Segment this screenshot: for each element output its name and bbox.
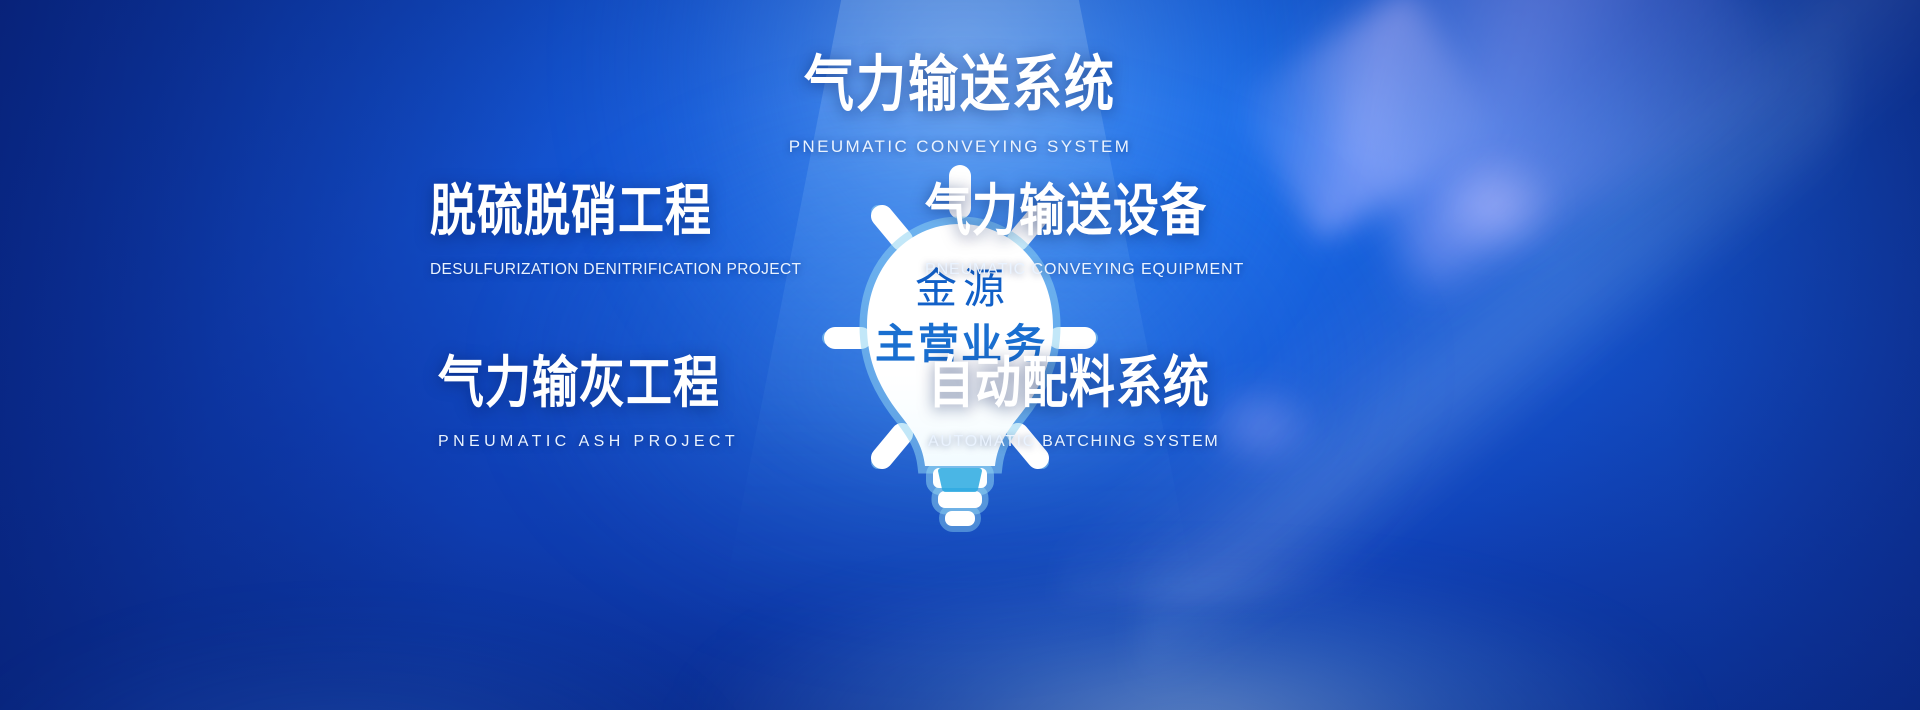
service-label-automatic-batching-system[interactable]: 自动配料系统 AUTOMATIC BATCHING SYSTEM — [928, 364, 1219, 451]
service-title-en: PNEUMATIC ASH PROJECT — [438, 433, 739, 451]
service-label-desulfurization-denitrification-project[interactable]: 脱硫脱硝工程 DESULFURIZATION DENITRIFICATION P… — [430, 192, 801, 279]
bulb-base-accent — [938, 468, 982, 492]
service-title-cn: 气力输送设备 — [925, 181, 1244, 240]
service-title-cn: 脱硫脱硝工程 — [430, 181, 801, 240]
main-business-banner: 气力输送系统 PNEUMATIC CONVEYING SYSTEM 脱硫脱硝工程… — [0, 0, 1920, 710]
service-title-en: AUTOMATIC BATCHING SYSTEM — [928, 433, 1219, 451]
service-title-cn: 气力输送系统 — [789, 52, 1132, 117]
service-label-pneumatic-conveying-equipment[interactable]: 气力输送设备 PNEUMATIC CONVEYING EQUIPMENT — [925, 192, 1244, 279]
service-title-en: PNEUMATIC CONVEYING SYSTEM — [789, 137, 1132, 157]
service-label-pneumatic-conveying-system[interactable]: 气力输送系统 PNEUMATIC CONVEYING SYSTEM — [789, 64, 1132, 157]
service-label-pneumatic-ash-project[interactable]: 气力输灰工程 PNEUMATIC ASH PROJECT — [438, 364, 739, 451]
service-title-cn: 自动配料系统 — [928, 353, 1219, 412]
service-title-cn: 气力输灰工程 — [438, 353, 739, 412]
service-title-en: DESULFURIZATION DENITRIFICATION PROJECT — [430, 261, 801, 279]
service-title-en: PNEUMATIC CONVEYING EQUIPMENT — [925, 261, 1244, 279]
